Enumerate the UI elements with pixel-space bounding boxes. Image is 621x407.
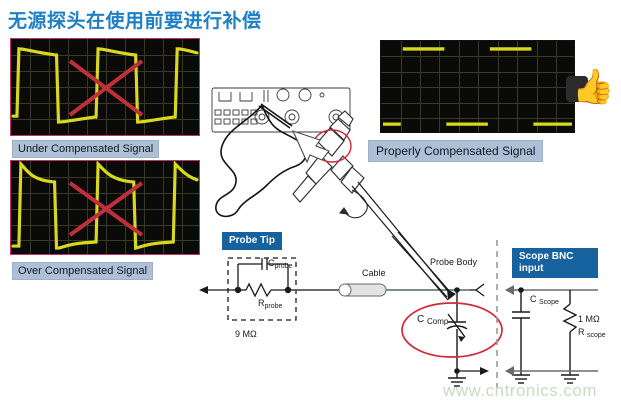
slide-canvas: 无源探头在使用前要进行补偿 Under Compensat xyxy=(0,0,621,407)
probe-cable-sketch xyxy=(216,104,306,216)
oscilloscope-sketch xyxy=(212,88,350,132)
node-probe-tip-right xyxy=(285,287,291,293)
probe-body-terminal xyxy=(470,284,484,296)
r-scope-symbol-graphic xyxy=(564,290,576,375)
c-scope-symbol-graphic xyxy=(512,290,530,375)
red-ellipse-c-comp-highlight xyxy=(402,303,502,357)
callout-arrows-to-c-comp xyxy=(352,182,456,300)
node-c-comp-top xyxy=(454,287,460,293)
ground-clip-sketch xyxy=(340,190,367,218)
c-probe-symbol-graphic xyxy=(238,258,288,290)
probe-return-arrow xyxy=(457,367,489,375)
node-probe-tip-left xyxy=(235,287,241,293)
signal-input-arrow xyxy=(199,286,232,294)
diagram-vector-layer xyxy=(0,0,621,407)
node-c-scope-top xyxy=(518,287,524,293)
site-watermark: www.cntronics.com xyxy=(443,381,597,401)
